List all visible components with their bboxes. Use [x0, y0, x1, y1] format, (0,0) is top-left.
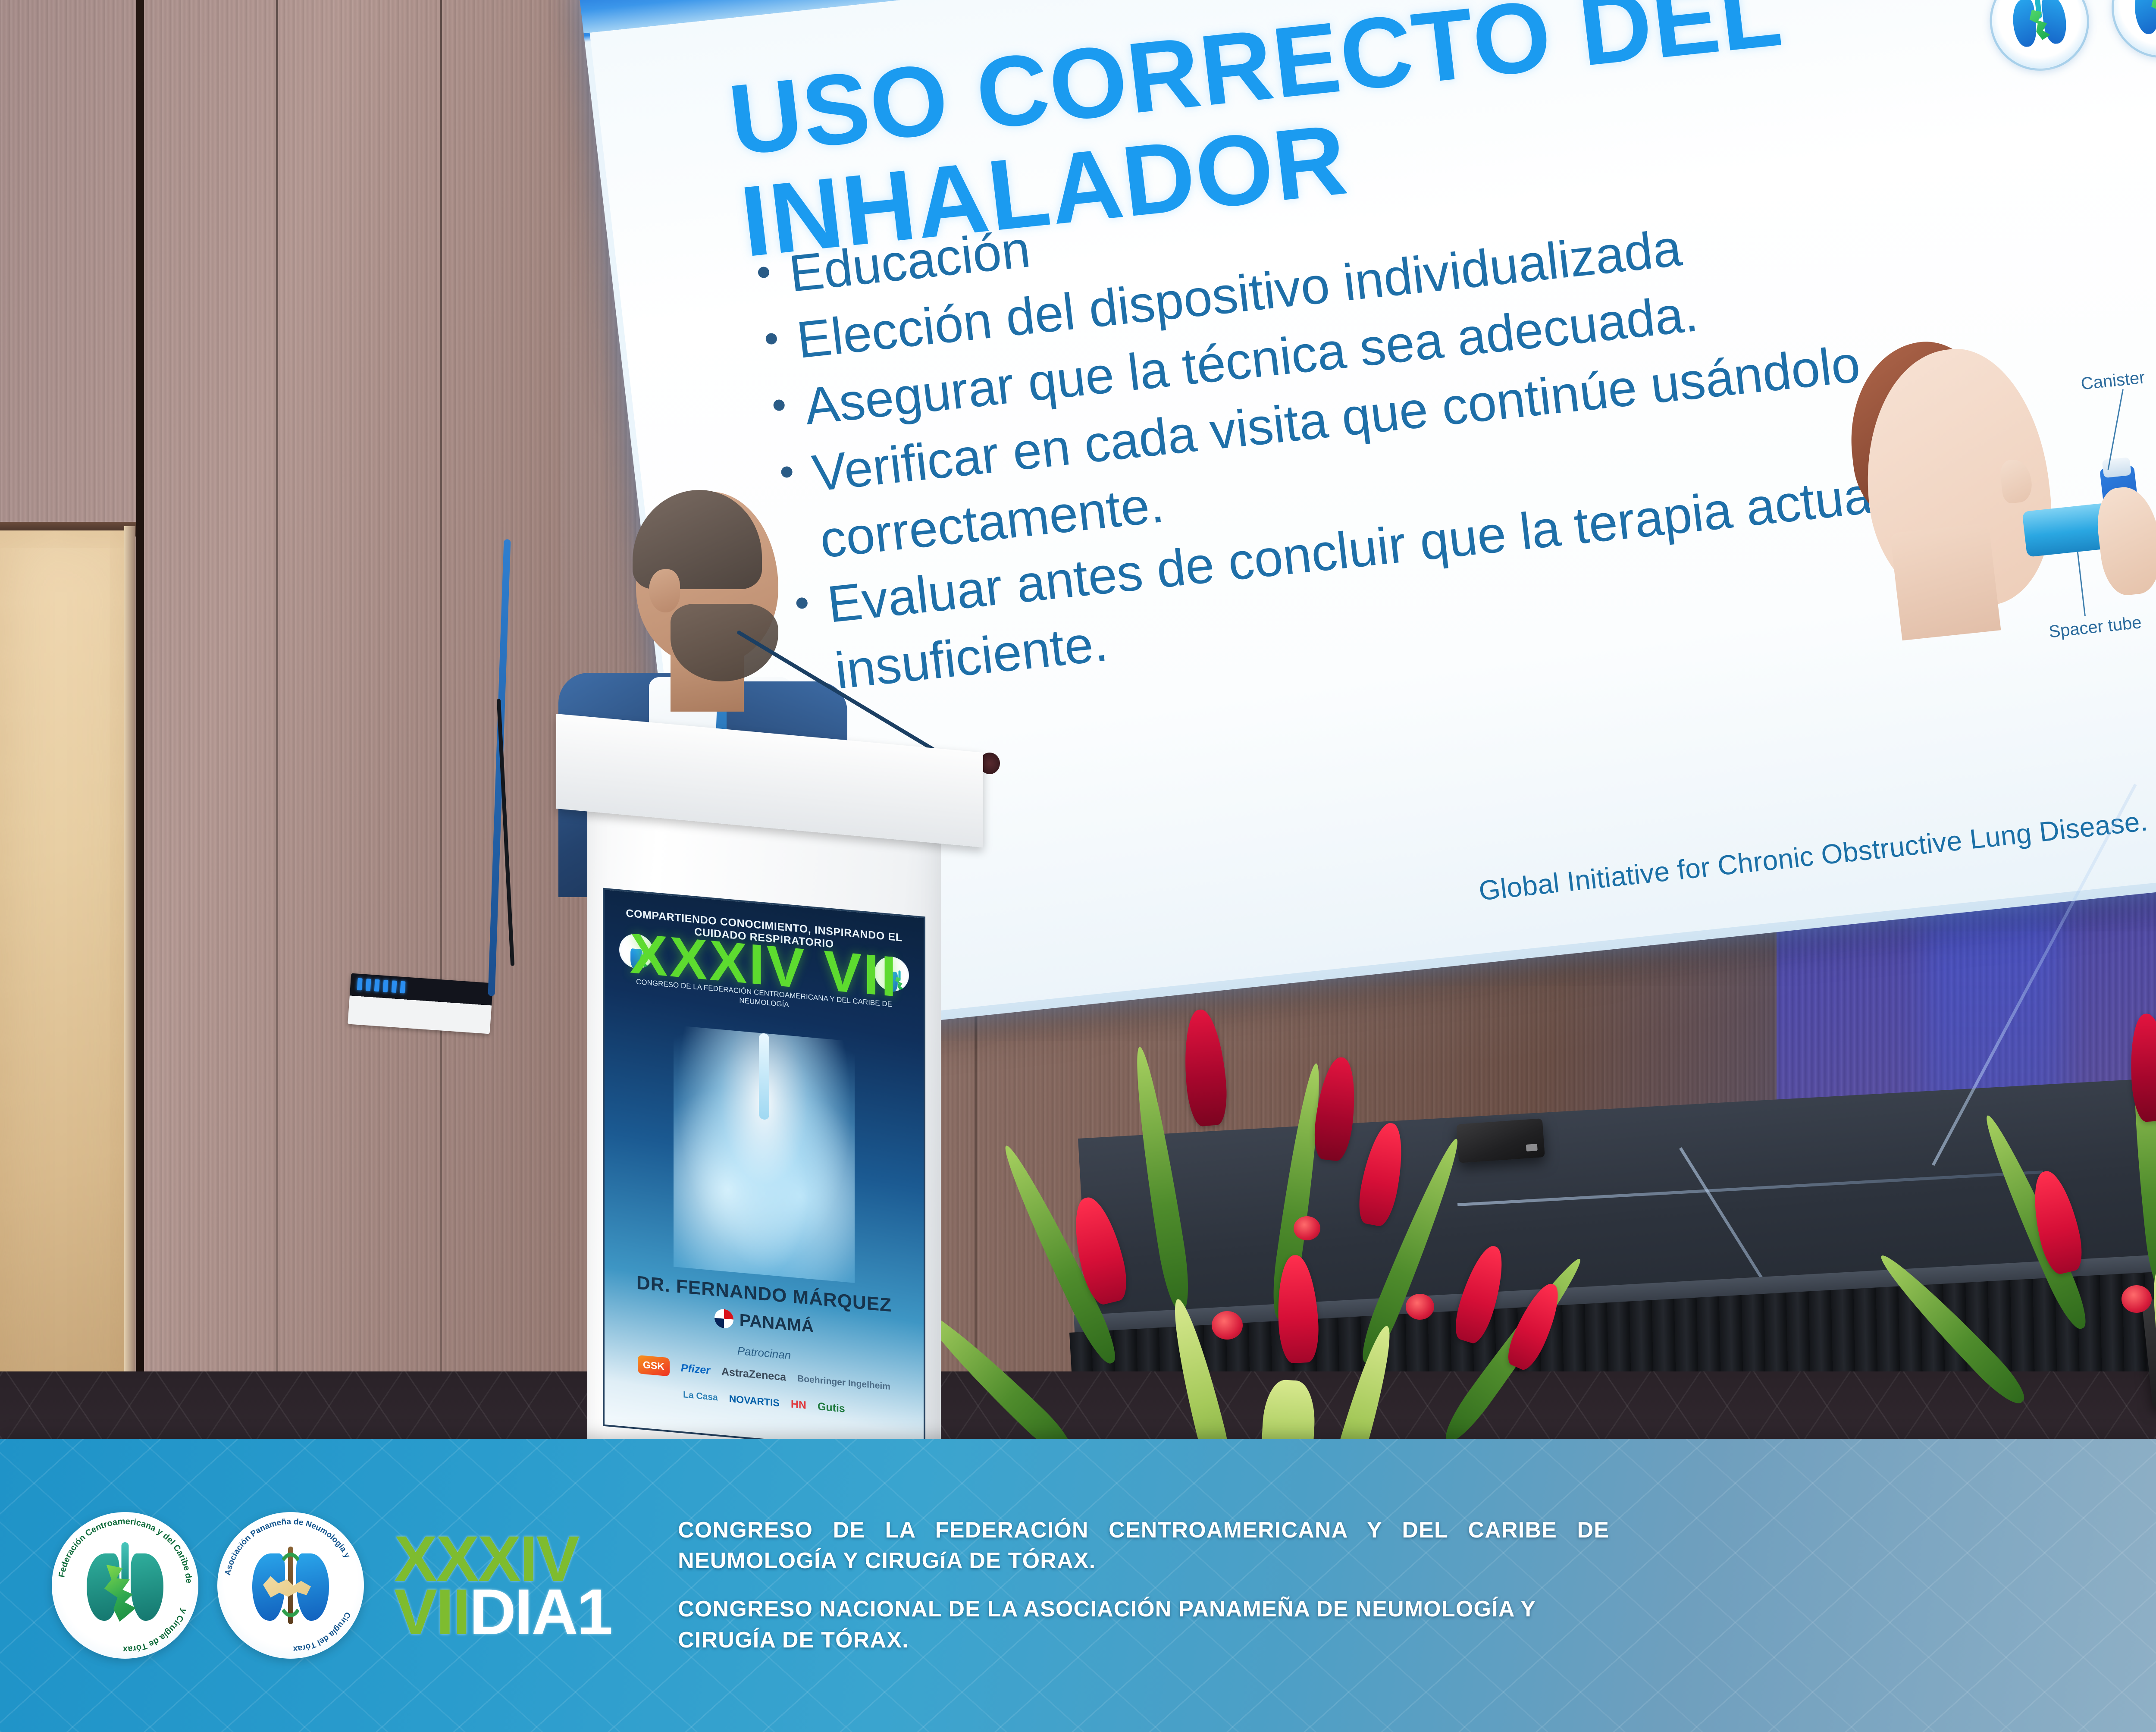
alcove-edge [124, 526, 135, 1440]
wall-plank-seam [440, 0, 442, 1440]
federation-logo-small [1984, 0, 2094, 75]
trachea-graphic [759, 1033, 769, 1120]
red-blossom [1212, 1311, 1243, 1340]
canister-cap-icon [2102, 457, 2131, 478]
sponsor-logo-lacasa: La Casa [683, 1390, 718, 1403]
congress-edition-mark: XXXIV VIIDIA1 [394, 1532, 611, 1638]
leader-line [2077, 552, 2086, 616]
panama-flag-icon [714, 1308, 733, 1329]
sponsor-logo-gsk: GSK [638, 1355, 670, 1377]
ginger-flower [1450, 1241, 1512, 1346]
wall-gap [136, 0, 144, 1440]
ginger-flower [1180, 1008, 1230, 1127]
panel-indicator-light [400, 981, 406, 994]
sponsor-logo-gutis: Gutis [818, 1400, 845, 1415]
slide-citation: Global Initiative for Chronic Obstructiv… [1477, 785, 2156, 907]
panama-lungs-emblem [250, 1542, 332, 1628]
day-label: DIA1 [469, 1575, 611, 1648]
canister-label: Canister [2080, 368, 2146, 394]
banner-line-2: CONGRESO NACIONAL DE LA ASOCIACIÓN PANAM… [678, 1594, 1609, 1656]
edition-vii: VII [394, 1575, 469, 1648]
panel-indicator-light [383, 980, 389, 992]
red-blossom [1406, 1294, 1434, 1320]
illustration-hand [2093, 484, 2156, 597]
red-blossom [2122, 1285, 2152, 1313]
sponsor-logo-novartis: NOVARTIS [729, 1393, 780, 1409]
panel-indicator-light [392, 980, 397, 993]
sponsor-logo-boehringer: Boehringer Ingelheim [797, 1373, 890, 1392]
banner-text-block: CONGRESO DE LA FEDERACIÓN CENTROAMERICAN… [678, 1515, 1609, 1656]
inhaler-illustration: Canister Spacer tube [1798, 305, 2156, 648]
palm-frond [1127, 1045, 1194, 1313]
wall-control-panel[interactable] [348, 973, 493, 1034]
ginger-flower [2127, 1013, 2156, 1123]
wall-plank-seam [276, 0, 278, 1440]
conference-photo: USO CORRECTO DEL INHALADOR Educación Ele… [0, 0, 2156, 1732]
spacer-tube-label: Spacer tube [2048, 613, 2143, 642]
federation-lungs-emblem [84, 1542, 166, 1628]
podium-poster: COMPARTIENDO CONOCIMIENTO, INSPIRANDO EL… [603, 888, 925, 1455]
sponsor-logo-pfizer: Pfizer [681, 1362, 710, 1377]
slide-corner-logos [1984, 0, 2156, 75]
banner-line-1: CONGRESO DE LA FEDERACIÓN CENTROAMERICAN… [678, 1515, 1609, 1577]
sponsor-logo-hn: HN [791, 1398, 806, 1412]
panama-association-logo-small [2106, 0, 2156, 63]
podium: COMPARTIENDO CONOCIMIENTO, INSPIRANDO EL… [556, 733, 983, 1475]
speaker-ear [649, 569, 680, 612]
poster-country-label: PANAMÁ [740, 1311, 814, 1336]
illustration-neck [1890, 523, 2001, 640]
panel-indicator-light [366, 979, 371, 991]
sponsor-logo-astrazeneca: AstraZeneca [721, 1365, 786, 1384]
floral-arrangement-center [1026, 992, 1587, 1475]
panel-indicator-light [357, 978, 363, 991]
panel-indicator-light [374, 979, 380, 992]
speaker-beard [671, 604, 778, 681]
federation-logo: Federación Centroamericana y del Caribe … [52, 1512, 198, 1659]
ginger-flower [1354, 1120, 1410, 1228]
floral-arrangement-right [1992, 940, 2156, 1458]
red-blossom [1294, 1216, 1320, 1240]
event-banner: Federación Centroamericana y del Caribe … [0, 1439, 2156, 1732]
lit-alcove [0, 530, 129, 1440]
panama-association-logo: Asociación Panameña de Neumología y Ciru… [217, 1512, 364, 1659]
